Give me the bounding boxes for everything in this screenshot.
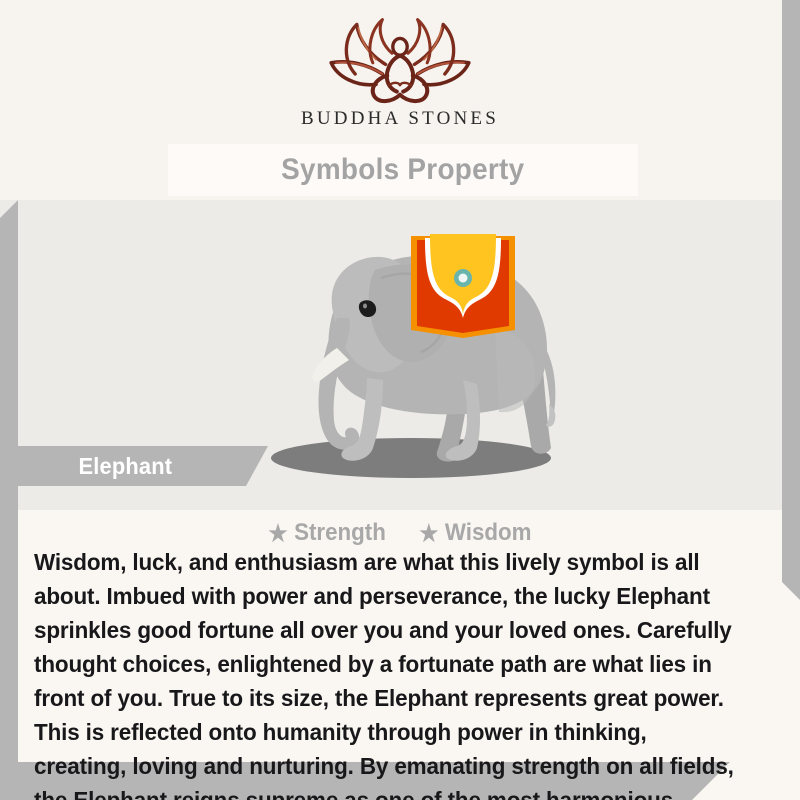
- frame-bar-left: [0, 200, 18, 780]
- lotus-meditation-icon: [320, 18, 480, 106]
- symbol-property-card: BUDDHA STONES Symbols Property: [0, 0, 800, 800]
- attribute-strength: ★ Strength: [269, 519, 386, 547]
- walking-elephant-icon: [215, 208, 595, 498]
- attribute-label: Strength: [295, 519, 387, 547]
- attribute-label: Wisdom: [445, 519, 532, 547]
- brand-header: BUDDHA STONES: [0, 0, 800, 148]
- elephant-shadow: [271, 438, 551, 478]
- symbol-name-label: Elephant: [78, 453, 172, 480]
- star-icon: ★: [269, 522, 288, 545]
- title-band: Symbols Property: [168, 144, 638, 196]
- symbol-description: Wisdom, luck, and enthusiasm are what th…: [34, 545, 741, 800]
- symbol-name-ribbon: Elephant: [18, 446, 268, 486]
- page-title: Symbols Property: [281, 153, 524, 187]
- star-icon: ★: [419, 522, 438, 545]
- attribute-wisdom: ★ Wisdom: [419, 519, 531, 547]
- brand-wordmark: BUDDHA STONES: [301, 108, 499, 130]
